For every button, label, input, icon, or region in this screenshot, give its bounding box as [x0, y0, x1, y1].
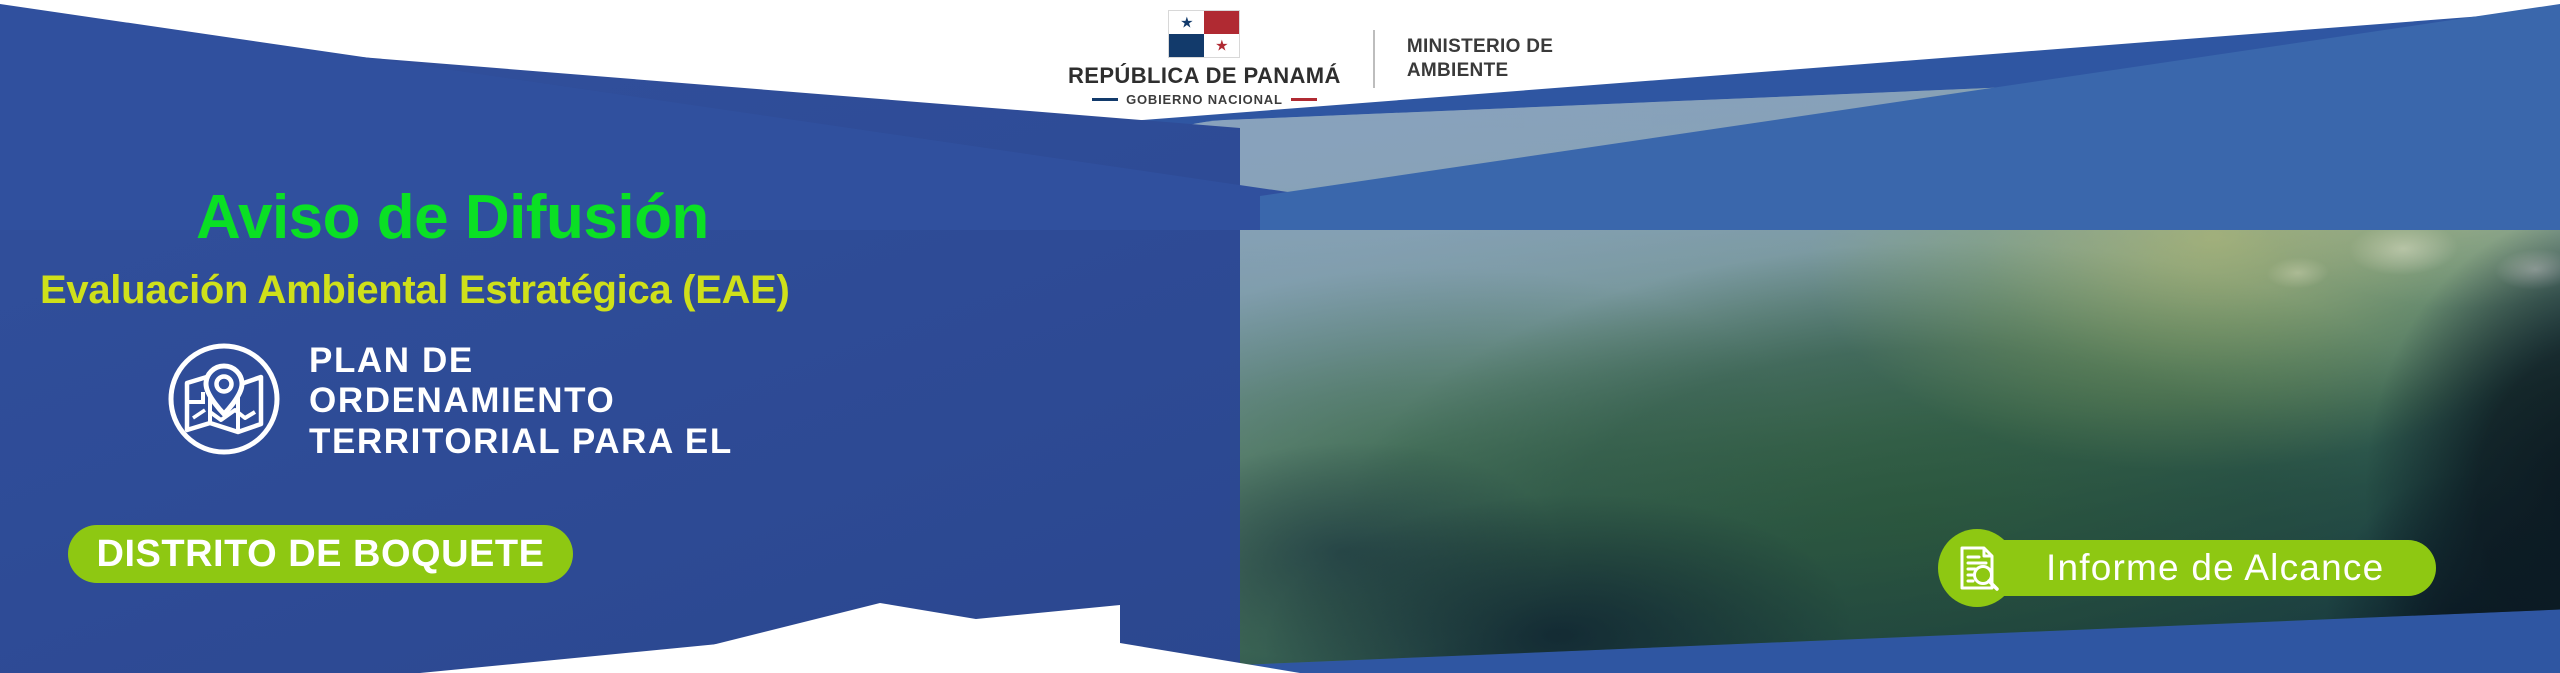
- district-pill-label: DISTRITO DE BOQUETE: [97, 533, 545, 576]
- republic-lockup: ★ ★ REPÚBLICA DE PANAMÁ GOBIERNO NACIONA…: [1068, 10, 1341, 107]
- government-row: GOBIERNO NACIONAL: [1092, 92, 1317, 107]
- banner: ★ ★ REPÚBLICA DE PANAMÁ GOBIERNO NACIONA…: [0, 0, 2560, 673]
- flag-quadrant-bottom-left: [1169, 34, 1204, 57]
- content-block: Aviso de Difusión Evaluación Ambiental E…: [0, 0, 1040, 673]
- document-search-icon: [1938, 529, 2016, 607]
- district-pill[interactable]: DISTRITO DE BOQUETE: [68, 525, 573, 583]
- ministry-line-2: AMBIENTE: [1407, 59, 1553, 83]
- logo-divider: [1373, 30, 1375, 88]
- flag-quadrant-top-left: ★: [1169, 11, 1204, 34]
- map-pin-icon: [165, 340, 283, 463]
- ministry-lockup: MINISTERIO DE AMBIENTE: [1407, 35, 1553, 83]
- government-label: GOBIERNO NACIONAL: [1126, 92, 1283, 107]
- flag-star-blue: ★: [1180, 15, 1193, 30]
- republic-label: REPÚBLICA DE PANAMÁ: [1068, 63, 1341, 89]
- cta-label: Informe de Alcance: [2046, 547, 2384, 589]
- rule-red: [1291, 98, 1317, 101]
- panama-flag-icon: ★ ★: [1168, 10, 1240, 58]
- page-subtitle: Evaluación Ambiental Estratégica (EAE): [40, 268, 790, 313]
- plan-lines: PLAN DE ORDENAMIENTO TERRITORIAL PARA EL: [309, 341, 733, 463]
- flag-quadrant-top-right: [1204, 11, 1239, 34]
- plan-row: PLAN DE ORDENAMIENTO TERRITORIAL PARA EL: [165, 340, 733, 463]
- plan-line-2: ORDENAMIENTO: [309, 381, 733, 422]
- rule-blue: [1092, 98, 1118, 101]
- flag-star-red: ★: [1215, 38, 1228, 53]
- government-logo: ★ ★ REPÚBLICA DE PANAMÁ GOBIERNO NACIONA…: [1068, 10, 1553, 107]
- page-title: Aviso de Difusión: [196, 182, 709, 253]
- cta-pill[interactable]: Informe de Alcance: [1954, 540, 2436, 596]
- informe-de-alcance-button[interactable]: Informe de Alcance: [1938, 529, 2436, 607]
- plan-line-3: TERRITORIAL PARA EL: [309, 422, 733, 463]
- ministry-line-1: MINISTERIO DE: [1407, 35, 1553, 59]
- plan-line-1: PLAN DE: [309, 341, 733, 382]
- flag-quadrant-bottom-right: ★: [1204, 34, 1239, 57]
